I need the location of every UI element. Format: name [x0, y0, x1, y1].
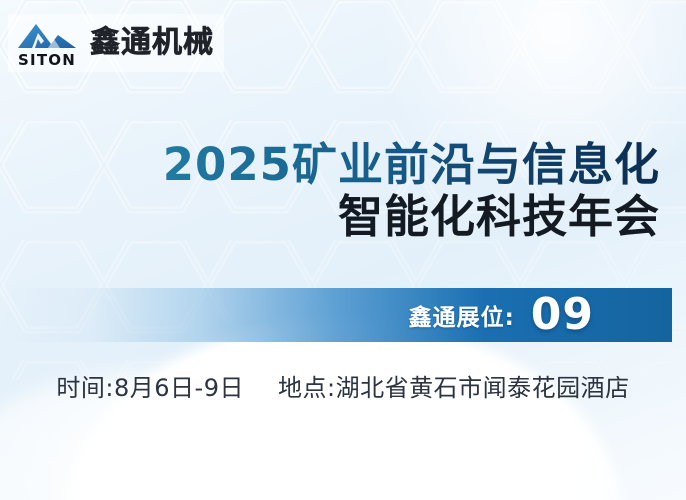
brand-logo: SITON 鑫通机械 [8, 14, 224, 72]
hexagon-pattern-background [0, 0, 686, 500]
event-venue: 地点:湖北省黄石市闻泰花园酒店 [278, 368, 630, 403]
headline-block: 2025矿业前沿与信息化 智能化科技年会 [0, 140, 660, 245]
event-info-row: 时间:8月6日-9日 地点:湖北省黄石市闻泰花园酒店 [0, 368, 686, 403]
booth-number-bar: 鑫通展位: 09 [0, 288, 672, 342]
mountain-logo-icon: SITON [14, 18, 80, 68]
headline-line-2: 智能化科技年会 [0, 190, 660, 245]
booth-number: 09 [531, 293, 594, 337]
svg-text:SITON: SITON [18, 51, 76, 68]
booth-label: 鑫通展位: [409, 298, 515, 332]
promo-banner: SITON 鑫通机械 2025矿业前沿与信息化 智能化科技年会 鑫通展位: 09… [0, 0, 686, 500]
event-date: 时间:8月6日-9日 [56, 368, 244, 403]
cloud-accent-bottom [63, 320, 623, 500]
brand-name-cn: 鑫通机械 [90, 28, 214, 58]
headline-line-1: 2025矿业前沿与信息化 [0, 140, 660, 190]
